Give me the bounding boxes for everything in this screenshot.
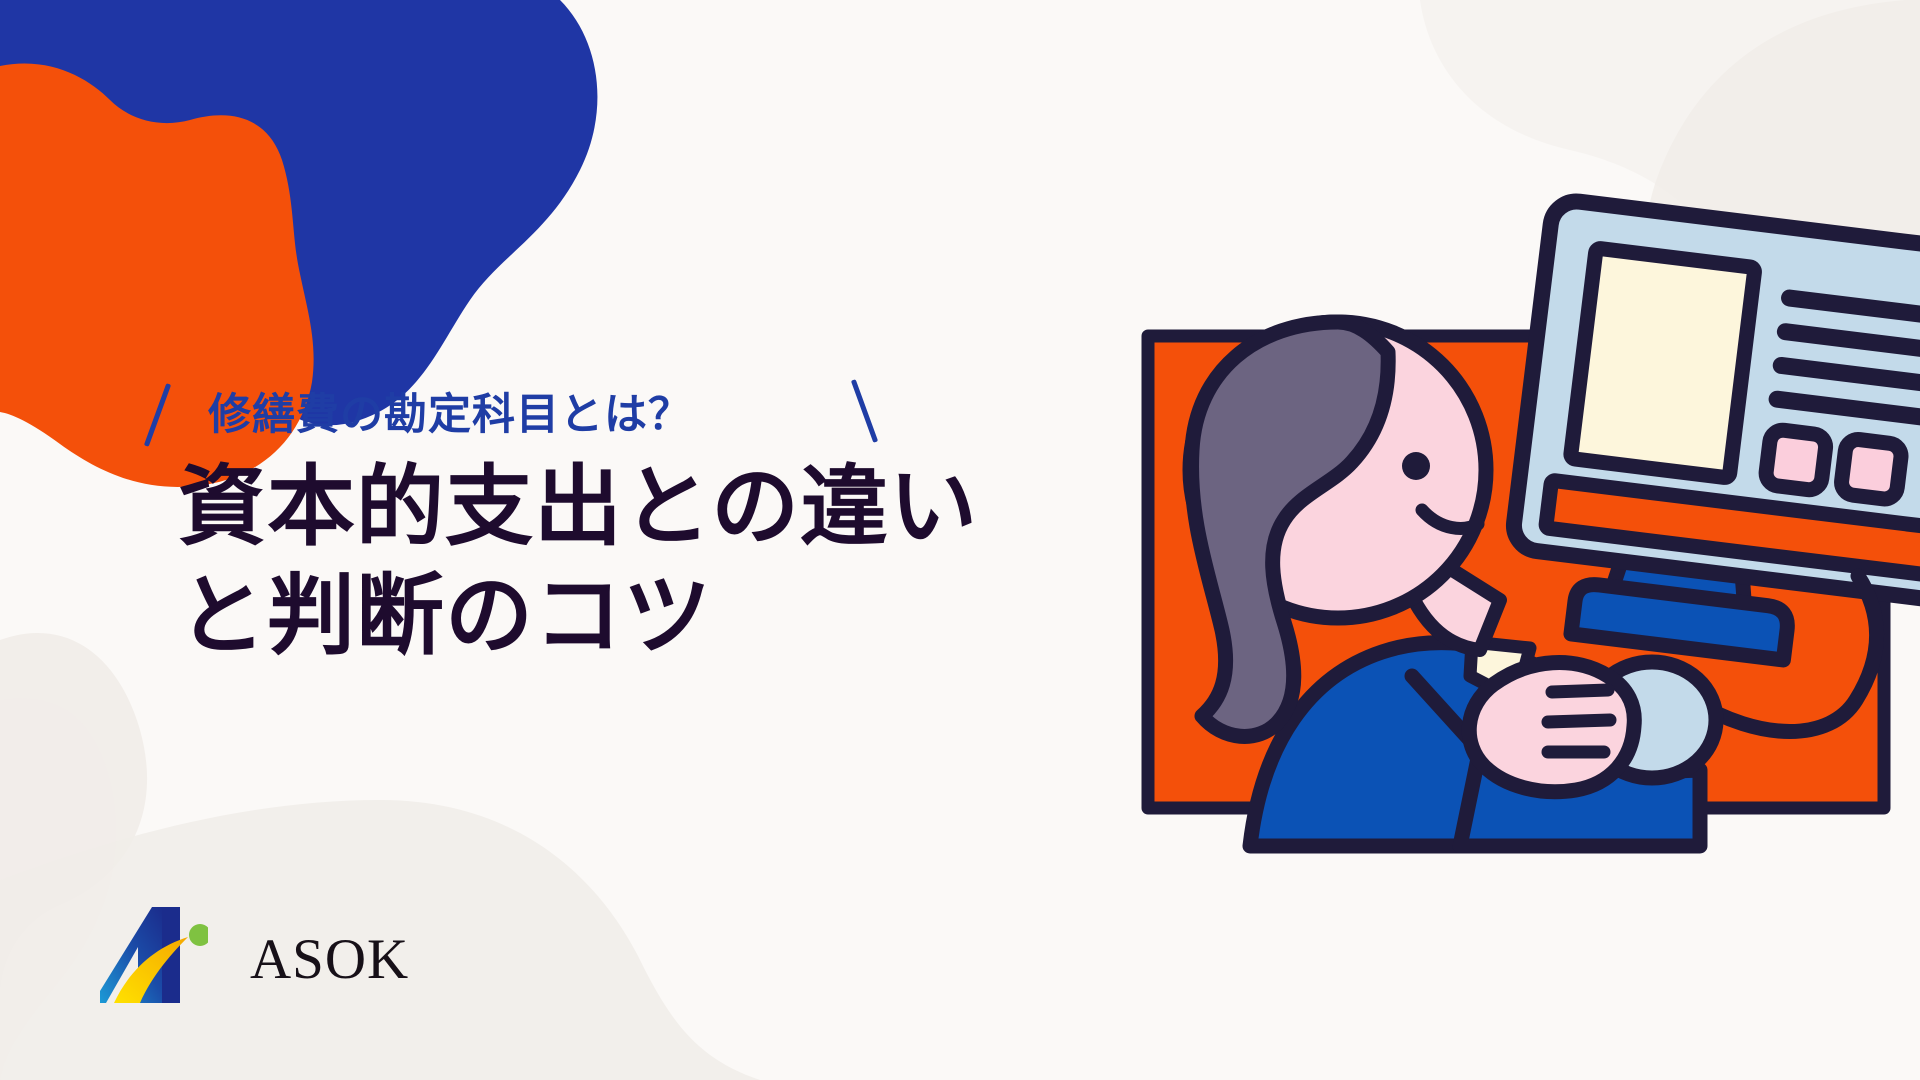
screen-main-panel <box>1570 248 1755 478</box>
person-eye <box>1402 452 1430 480</box>
asok-logo-mark-icon <box>100 903 208 1015</box>
screen-tile-1 <box>1765 429 1827 491</box>
logo-dot-icon <box>189 924 208 946</box>
asok-wordmark: ASOK <box>250 931 409 988</box>
screen-tile-2 <box>1840 438 1902 500</box>
finger-1 <box>1552 690 1608 692</box>
finger-2 <box>1548 720 1610 722</box>
hero-banner: 修繕費の勘定科目とは？ 資本的支出との違い と判断のコツ <box>0 0 1920 1080</box>
asok-logo[interactable]: ASOK <box>100 903 410 1015</box>
